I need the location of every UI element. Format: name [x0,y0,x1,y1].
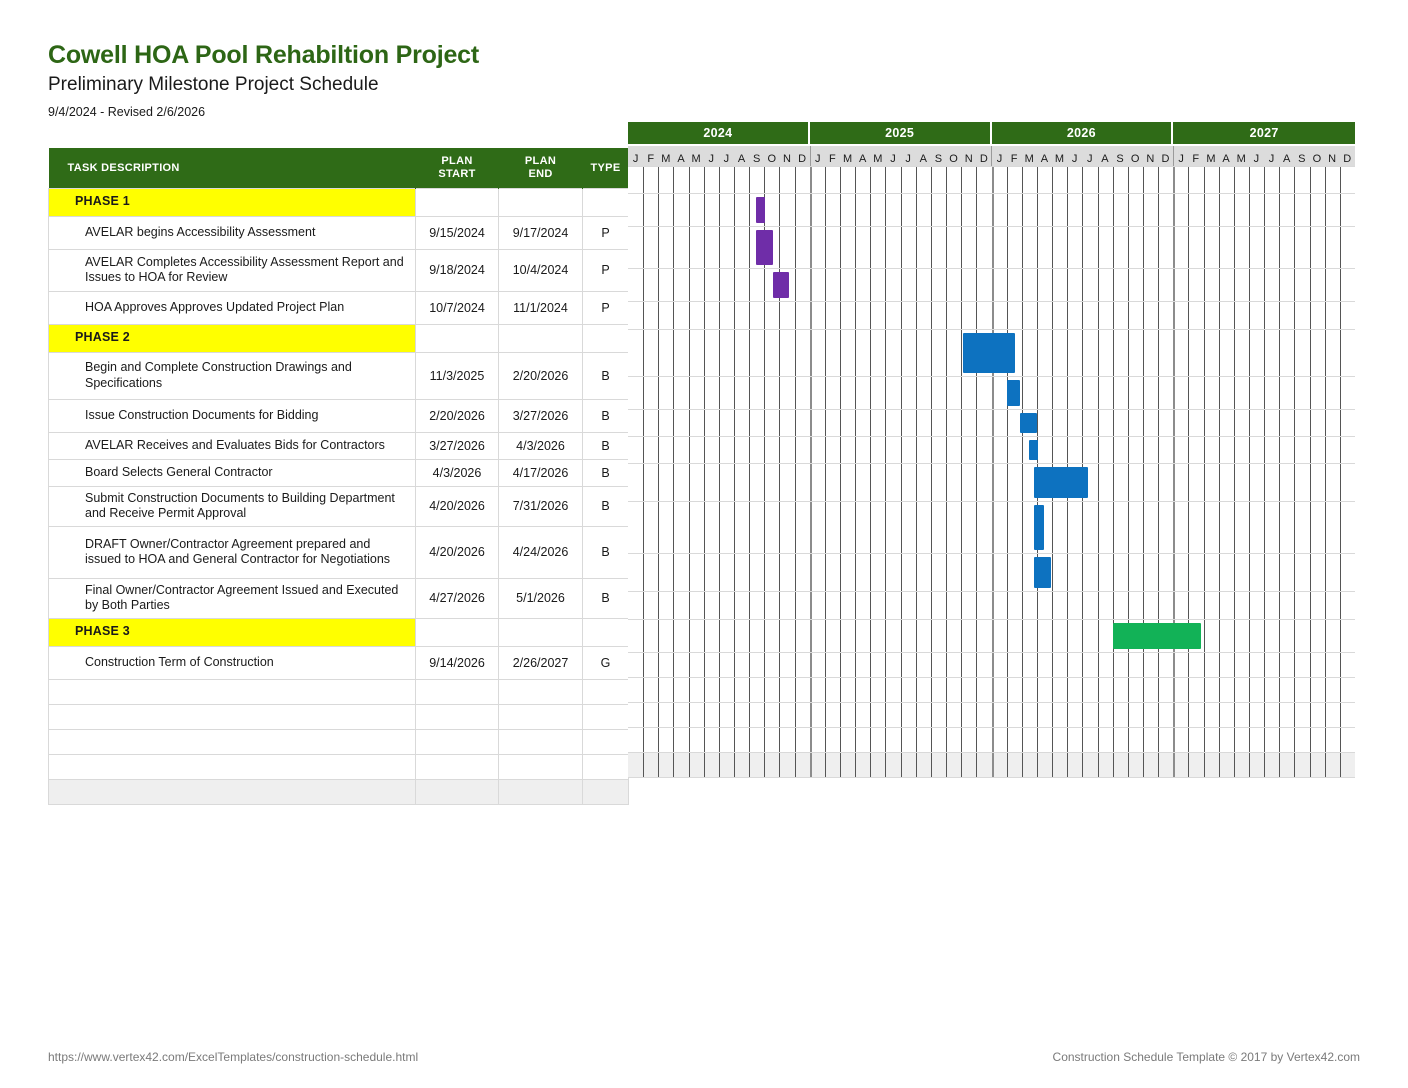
gantt-bar-blue[interactable] [963,333,1014,373]
grid-line [901,410,902,436]
grid-line [779,753,780,777]
grid-line [719,377,720,409]
grid-line [1113,728,1114,752]
grid-line [1188,753,1189,777]
grid-line [946,194,947,226]
gantt-row [628,194,1355,227]
gantt-bar-blue[interactable] [1034,557,1051,588]
grid-line [1158,377,1159,409]
grid-line [1204,728,1205,752]
grid-line [931,377,932,409]
grid-line [1052,753,1053,777]
month-header-2024-3: M [658,146,673,166]
grid-line [1264,653,1265,677]
grid-line [1325,728,1326,752]
grid-line [1158,330,1159,376]
grid-line [1143,653,1144,677]
grid-line [840,227,841,268]
type-value: B [583,578,629,618]
grid-line [901,330,902,376]
grid-line [1310,437,1311,463]
grid-line [1052,620,1053,652]
grid-line [1098,620,1099,652]
grid-line [901,620,902,652]
gantt-bar-green[interactable] [1113,623,1201,649]
grid-line [931,194,932,226]
grid-line [976,464,977,501]
grid-line [1037,227,1038,268]
grid-line [976,753,977,777]
grid-line [1279,678,1280,702]
grid-line [704,502,705,553]
table-row [49,779,629,804]
grid-line [764,728,765,752]
month-header-2026-9: S [1113,146,1128,166]
grid-line [840,678,841,702]
grid-line [992,703,994,727]
grid-line [1128,653,1129,677]
grid-line [946,502,947,553]
grid-line [719,167,720,193]
grid-line [1052,302,1053,329]
grid-line [916,703,917,727]
grid-line [870,728,871,752]
grid-line [1158,653,1159,677]
task-description[interactable]: AVELAR Completes Accessibility Assessmen… [49,249,416,291]
grid-line [992,653,994,677]
gantt-bar-blue[interactable] [1034,505,1044,550]
grid-line [1098,653,1099,677]
grid-line [779,227,780,268]
grid-line [1158,194,1159,226]
grid-line [1098,464,1099,501]
grid-line [946,728,947,752]
gantt-row [628,620,1355,653]
plan-start-value: 4/3/2026 [416,459,499,486]
plan-start-line1: PLAN [416,155,498,168]
table-row: Begin and Complete Construction Drawings… [49,352,629,399]
plan-end-value: 2/20/2026 [499,352,583,399]
grid-line [1325,502,1326,553]
grid-line [976,410,977,436]
plan-start-value [416,704,499,729]
grid-line [1294,194,1295,226]
month-header-2025-4: A [855,146,870,166]
grid-line [1219,302,1220,329]
grid-line [1310,330,1311,376]
gantt-row [628,464,1355,502]
grid-line [1264,330,1265,376]
grid-line [1007,410,1008,436]
grid-line [1279,703,1280,727]
task-table: TASK DESCRIPTION PLAN START PLAN END TYP… [48,148,628,805]
grid-line [1294,653,1295,677]
grid-line [946,410,947,436]
grid-line [976,728,977,752]
grid-line [810,678,812,702]
grid-line [976,620,977,652]
grid-line [1143,554,1144,591]
month-header-2026-5: M [1052,146,1067,166]
grid-line [855,620,856,652]
grid-line [885,620,886,652]
grid-line [1204,620,1205,652]
task-description[interactable]: AVELAR begins Accessibility Assessment [49,216,416,249]
gantt-bar-blue[interactable] [1007,380,1021,406]
grid-line [673,410,674,436]
grid-line [673,703,674,727]
grid-line [1022,437,1023,463]
grid-line [1310,703,1311,727]
grid-line [1340,653,1341,677]
month-header-2024-10: O [764,146,779,166]
grid-line [961,592,962,619]
task-description[interactable]: AVELAR Receives and Evaluates Bids for C… [49,432,416,459]
grid-line [1158,227,1159,268]
grid-line [673,753,674,777]
gantt-chart: 2024202520262027 JFMAMJJASONDJFMAMJJASON… [628,122,1355,778]
grid-line [749,620,750,652]
grid-line [961,269,962,301]
grid-line [1158,437,1159,463]
grid-line [795,330,796,376]
grid-line [1249,269,1250,301]
grid-line [901,554,902,591]
grid-line [1128,678,1129,702]
grid-line [1219,728,1220,752]
grid-line [992,554,994,591]
grid-line [779,554,780,591]
grid-line [1249,167,1250,193]
grid-line [1340,678,1341,702]
grid-line [764,554,765,591]
grid-line [1234,703,1235,727]
table-row: AVELAR Receives and Evaluates Bids for C… [49,432,629,459]
grid-line [719,227,720,268]
grid-line [855,167,856,193]
grid-line [1325,653,1326,677]
grid-line [1279,167,1280,193]
grid-line [1007,728,1008,752]
grid-line [916,269,917,301]
grid-line [1188,410,1189,436]
grid-line [689,194,690,226]
grid-line [1325,330,1326,376]
grid-line [719,592,720,619]
task-description[interactable]: Construction Term of Construction [49,646,416,679]
grid-line [825,728,826,752]
grid-line [719,703,720,727]
gantt-bar-blue[interactable] [1034,467,1089,498]
grid-line [704,678,705,702]
grid-line [810,377,812,409]
task-description[interactable]: Board Selects General Contractor [49,459,416,486]
grid-line [749,194,750,226]
month-header-2025-12: D [976,146,991,166]
month-header-row: JFMAMJJASONDJFMAMJJASONDJFMAMJJASONDJFMA… [628,144,1355,166]
grid-line [1143,437,1144,463]
grid-line [961,194,962,226]
grid-line [855,464,856,501]
grid-line [1098,410,1099,436]
grid-line [1098,703,1099,727]
grid-line [734,437,735,463]
task-description[interactable]: DRAFT Owner/Contractor Agreement prepare… [49,526,416,578]
grid-line [1067,437,1068,463]
grid-line [1294,377,1295,409]
grid-line [1234,653,1235,677]
grid-line [673,678,674,702]
grid-line [1173,728,1175,752]
grid-line [855,269,856,301]
grid-line [658,227,659,268]
plan-end-value: 4/17/2026 [499,459,583,486]
grid-line [1173,678,1175,702]
grid-line [870,269,871,301]
gantt-row [628,653,1355,678]
grid-line [1264,302,1265,329]
grid-line [1204,302,1205,329]
grid-line [658,703,659,727]
grid-line [1264,377,1265,409]
grid-line [901,502,902,553]
grid-line [1173,269,1175,301]
grid-line [1082,269,1083,301]
grid-line [1082,753,1083,777]
gantt-bar-purple[interactable] [756,230,773,265]
grid-line [1113,437,1114,463]
grid-line [931,678,932,702]
grid-line [1249,653,1250,677]
task-description[interactable]: Final Owner/Contractor Agreement Issued … [49,578,416,618]
grid-line [734,620,735,652]
grid-line [1204,410,1205,436]
plan-start-line2: START [416,168,498,181]
grid-line [1310,620,1311,652]
grid-line [1219,620,1220,652]
gantt-row [628,377,1355,410]
grid-line [719,194,720,226]
grid-line [1340,410,1341,436]
grid-line [1113,410,1114,436]
grid-line [1022,377,1023,409]
grid-line [1082,167,1083,193]
month-header-2025-3: M [840,146,855,166]
grid-line [1082,194,1083,226]
plan-start-value: 9/14/2026 [416,646,499,679]
grid-line [719,330,720,376]
plan-end-value: 9/17/2024 [499,216,583,249]
grid-line [704,437,705,463]
month-header-2025-5: M [870,146,885,166]
grid-line [673,269,674,301]
grid-line [885,464,886,501]
grid-line [1234,269,1235,301]
grid-line [1158,502,1159,553]
grid-line [825,620,826,652]
grid-line [658,678,659,702]
grid-line [749,554,750,591]
grid-line [1234,554,1235,591]
gantt-row [628,330,1355,377]
grid-line [643,227,644,268]
grid-line [1067,377,1068,409]
grid-line [1294,502,1295,553]
grid-line [795,194,796,226]
grid-line [870,753,871,777]
month-header-2024-8: A [734,146,749,166]
grid-line [1067,502,1068,553]
grid-line [704,554,705,591]
grid-line [1279,620,1280,652]
grid-line [1340,464,1341,501]
grid-line [931,330,932,376]
grid-line [1234,410,1235,436]
task-description[interactable]: Begin and Complete Construction Drawings… [49,352,416,399]
grid-line [689,502,690,553]
grid-line [992,728,994,752]
grid-line [931,302,932,329]
grid-line [658,167,659,193]
grid-line [689,302,690,329]
grid-line [992,678,994,702]
grid-line [976,302,977,329]
grid-line [1188,653,1189,677]
grid-line [931,653,932,677]
grid-line [901,437,902,463]
grid-line [1249,227,1250,268]
grid-line [931,410,932,436]
grid-line [1128,502,1129,553]
grid-line [1128,464,1129,501]
grid-line [1128,437,1129,463]
grid-line [931,437,932,463]
grid-line [855,437,856,463]
grid-line [734,678,735,702]
footer-url[interactable]: https://www.vertex42.com/ExcelTemplates/… [48,1050,418,1064]
grid-line [1067,227,1068,268]
grid-line [1143,194,1144,226]
grid-line [885,437,886,463]
grid-line [1325,194,1326,226]
grid-line [855,592,856,619]
grid-line [1173,167,1175,193]
grid-line [1340,194,1341,226]
grid-line [1249,753,1250,777]
grid-line [1340,753,1341,777]
plan-end-value [499,779,583,804]
grid-line [689,678,690,702]
grid-line [855,728,856,752]
grid-line [704,728,705,752]
grid-line [1188,377,1189,409]
grid-line [1128,167,1129,193]
grid-line [1113,502,1114,553]
grid-line [1264,464,1265,501]
grid-line [825,269,826,301]
grid-line [689,464,690,501]
grid-line [1173,502,1175,553]
gantt-bar-purple[interactable] [756,197,765,223]
grid-line [961,410,962,436]
month-header-2024-4: A [673,146,688,166]
grid-line [870,620,871,652]
gantt-bar-purple[interactable] [773,272,788,298]
grid-line [1022,753,1023,777]
grid-line [719,269,720,301]
grid-line [643,194,644,226]
grid-line [961,703,962,727]
grid-line [1219,410,1220,436]
grid-line [1325,464,1326,501]
grid-line [901,653,902,677]
grid-line [1340,437,1341,463]
grid-line [1007,167,1008,193]
grid-line [749,437,750,463]
grid-line [810,330,812,376]
month-header-2024-2: F [643,146,658,166]
grid-line [673,377,674,409]
grid-line [840,167,841,193]
month-header-2025-7: J [901,146,916,166]
task-description[interactable]: HOA Approves Approves Updated Project Pl… [49,291,416,324]
grid-line [1007,194,1008,226]
gantt-row [628,166,1355,194]
task-description[interactable]: Submit Construction Documents to Buildin… [49,486,416,526]
grid-line [961,678,962,702]
grid-line [1279,437,1280,463]
gantt-bar-blue[interactable] [1020,413,1037,433]
grid-line [1325,620,1326,652]
grid-line [825,302,826,329]
grid-line [779,167,780,193]
task-description[interactable]: Issue Construction Documents for Bidding [49,399,416,432]
grid-line [1264,620,1265,652]
grid-line [643,302,644,329]
grid-line [1037,620,1038,652]
month-header-2025-10: O [946,146,961,166]
grid-line [1219,269,1220,301]
gantt-schedule-page: Cowell HOA Pool Rehabiltion Project Prel… [0,0,1408,1088]
grid-line [1325,703,1326,727]
grid-line [1158,167,1159,193]
grid-line [870,330,871,376]
grid-line [901,167,902,193]
grid-line [764,464,765,501]
grid-line [1294,437,1295,463]
gantt-bar-blue[interactable] [1029,440,1037,460]
grid-line [734,592,735,619]
grid-line [810,703,812,727]
grid-line [976,703,977,727]
grid-line [1082,554,1083,591]
grid-line [1052,194,1053,226]
grid-line [1067,410,1068,436]
month-header-2025-8: A [916,146,931,166]
type-value [583,679,629,704]
grid-line [658,377,659,409]
grid-line [1264,728,1265,752]
grid-line [976,377,977,409]
grid-line [1219,464,1220,501]
grid-line [764,592,765,619]
grid-line [1113,330,1114,376]
grid-line [1052,592,1053,619]
table-row: Issue Construction Documents for Bidding… [49,399,629,432]
grid-line [1264,437,1265,463]
plan-start-value [416,779,499,804]
grid-line [810,269,812,301]
